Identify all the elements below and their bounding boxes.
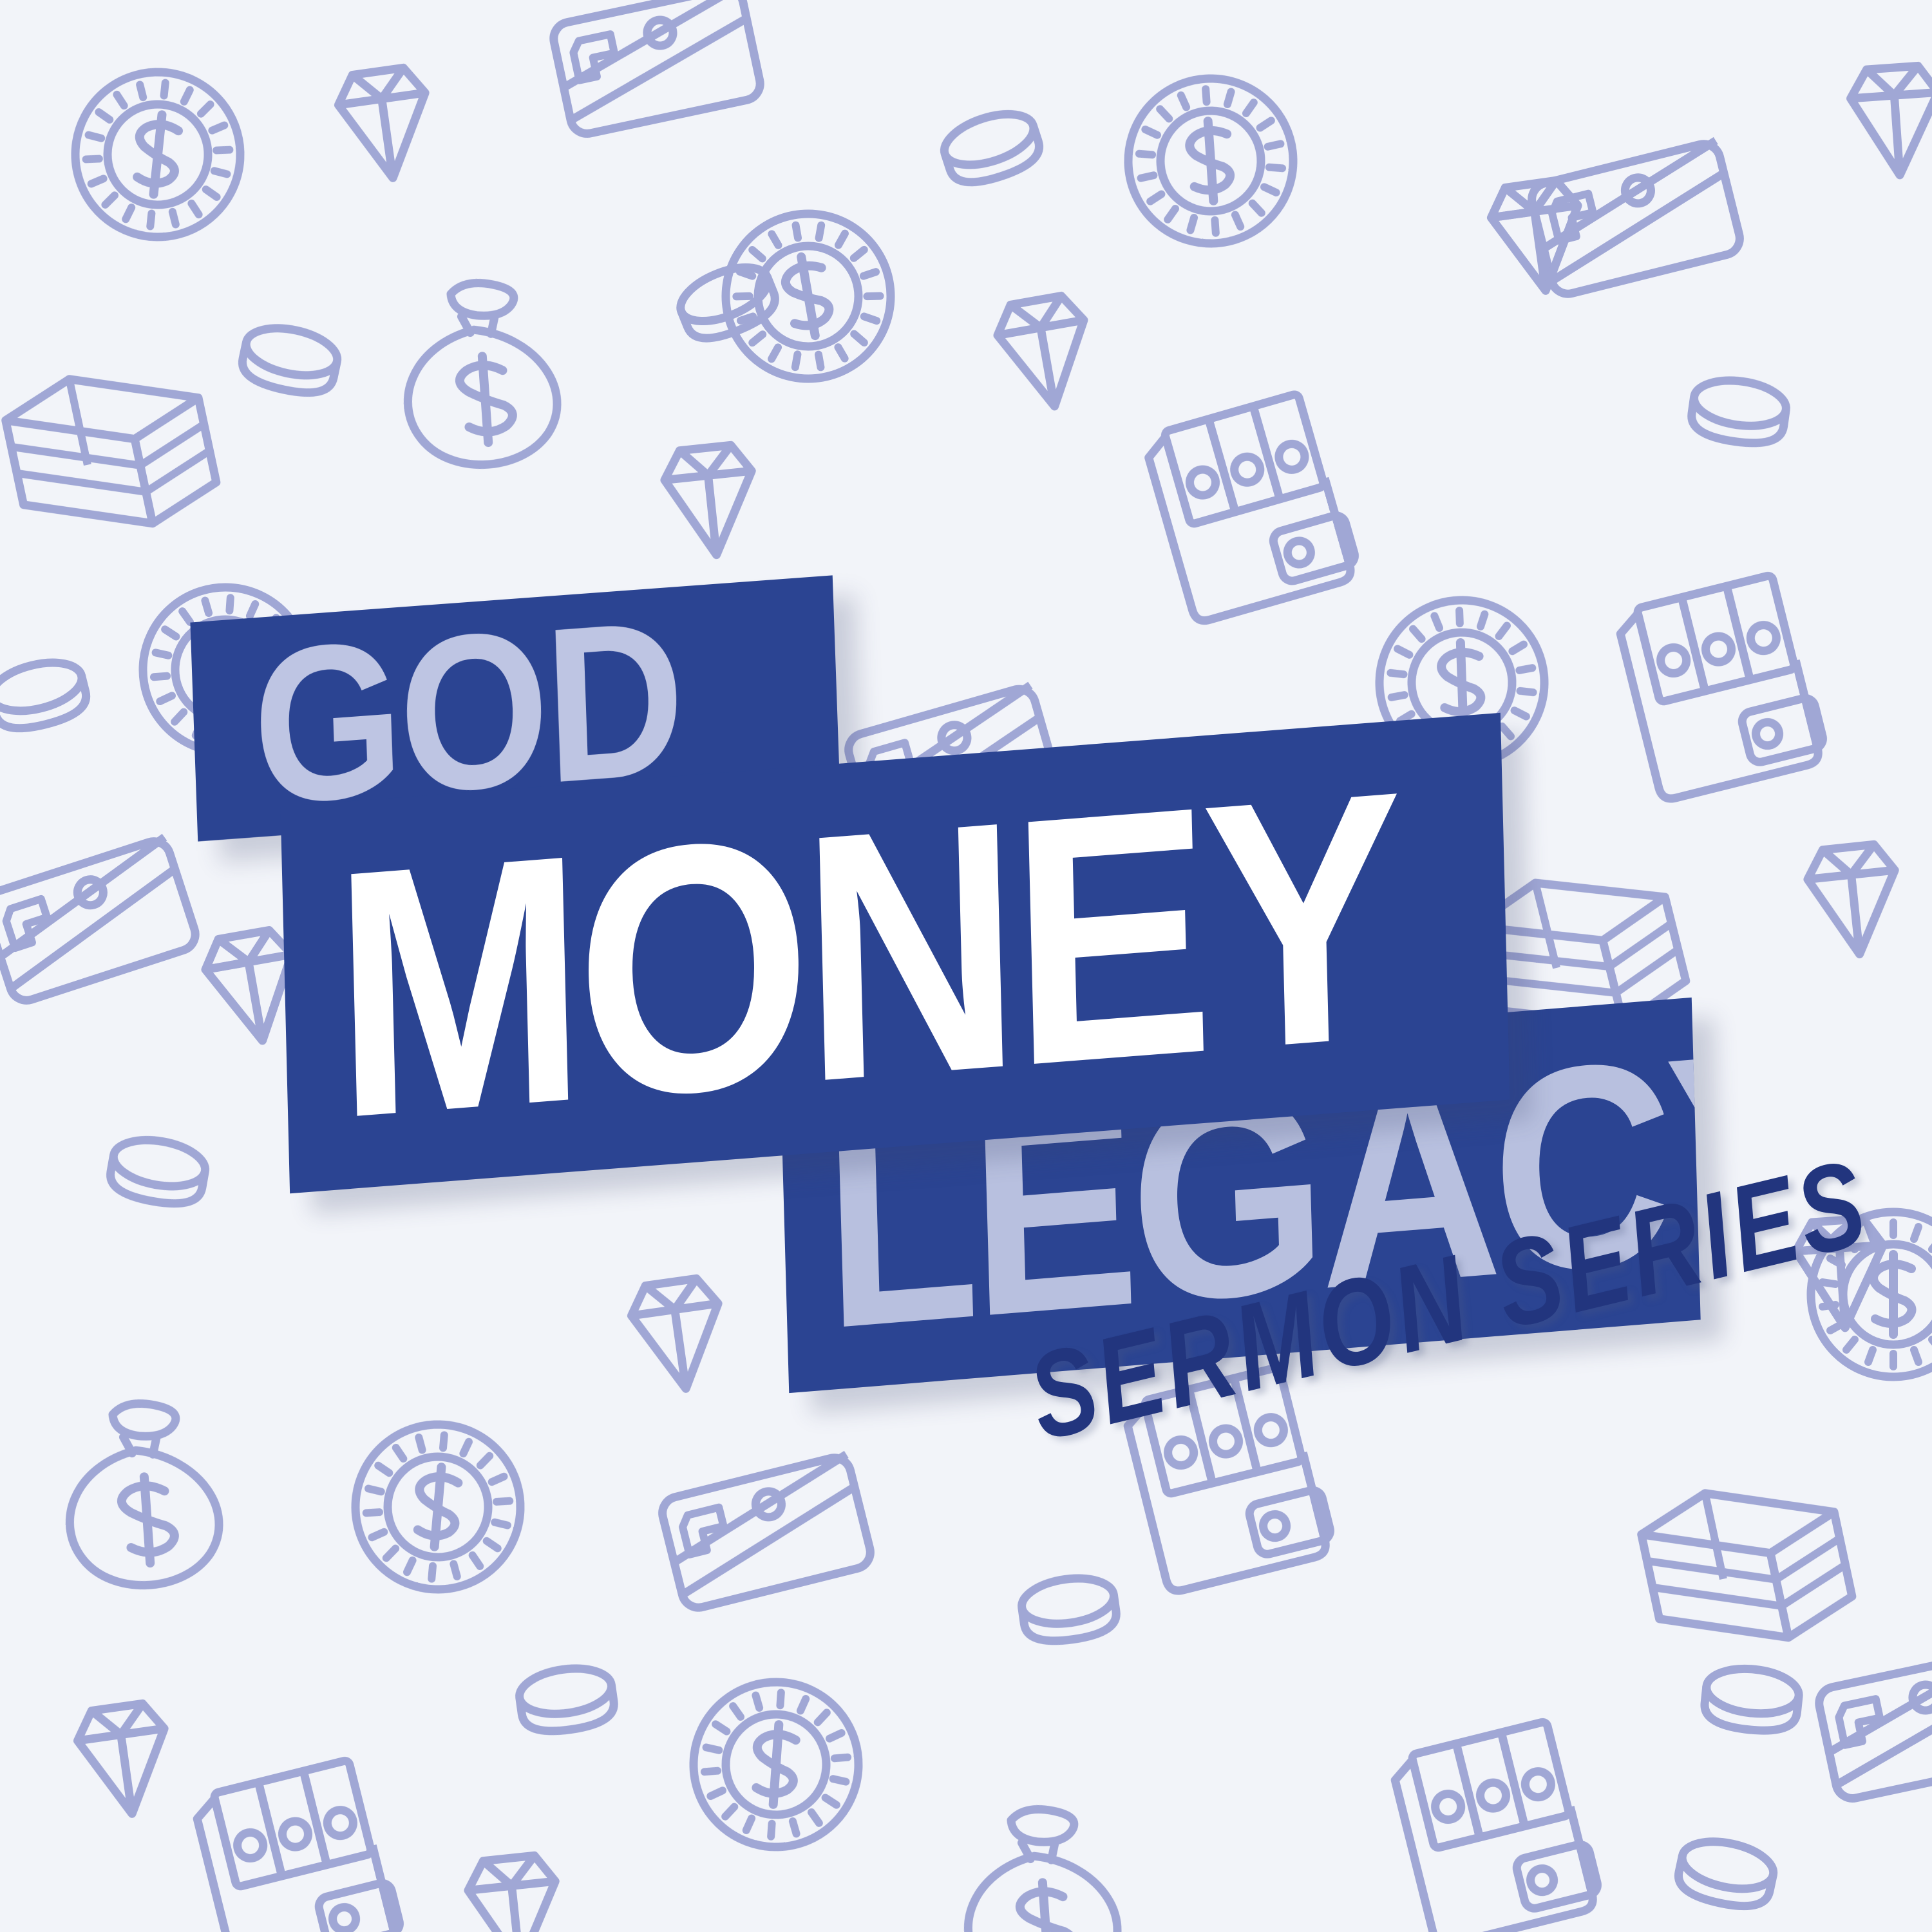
sermon-series-graphic: GOD MONEY LEGACY SERMON SERIES [0, 0, 1932, 1932]
title-word-money: MONEY [281, 748, 1399, 1167]
